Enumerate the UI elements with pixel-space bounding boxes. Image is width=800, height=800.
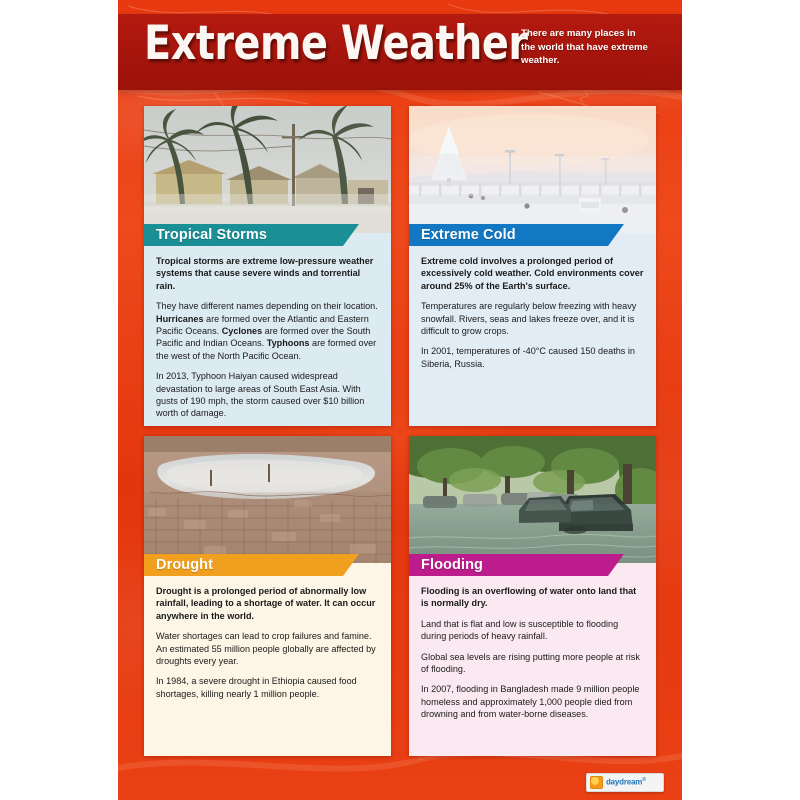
poster-subtitle: There are many places in the world that …	[521, 27, 651, 68]
panel-extreme-cold: Extreme Cold Extreme cold involves a pro…	[409, 106, 656, 426]
sun-cloud-icon	[590, 776, 603, 789]
paragraph: Global sea levels are rising putting mor…	[421, 651, 644, 676]
panel-header-extreme-cold: Extreme Cold	[409, 224, 624, 246]
panel-header-drought: Drought	[144, 554, 359, 576]
paragraph: In 1984, a severe drought in Ethiopia ca…	[156, 675, 379, 700]
paragraph: In 2007, flooding in Bangladesh made 9 m…	[421, 683, 644, 720]
panel-header-flooding: Flooding	[409, 554, 624, 576]
paragraph: In 2013, Typhoon Haiyan caused widesprea…	[156, 370, 379, 420]
paragraph: In 2001, temperatures of -40°C caused 15…	[421, 345, 644, 370]
paragraph: Land that is flat and low is susceptible…	[421, 618, 644, 643]
extreme-weather-poster: Extreme Weather There are many places in…	[118, 0, 682, 800]
logo-wordmark: daydream®	[606, 778, 646, 787]
panel-body-drought: Drought is a prolonged period of abnorma…	[144, 563, 391, 756]
paragraph: Flooding is an overflowing of water onto…	[421, 585, 644, 610]
paragraph: Temperatures are regularly below freezin…	[421, 300, 644, 337]
poster-banner: Extreme Weather There are many places in…	[118, 14, 682, 90]
flooding-photo	[409, 436, 656, 563]
publisher-logo: daydream®	[586, 773, 664, 792]
panel-body-extreme-cold: Extreme cold involves a prolonged period…	[409, 233, 656, 426]
panel-heading: Tropical Storms	[144, 227, 267, 243]
panel-flooding: Flooding Flooding is an overflowing of w…	[409, 436, 656, 756]
panel-heading: Drought	[144, 557, 213, 573]
paragraph: Extreme cold involves a prolonged period…	[421, 255, 644, 292]
poster-canvas: Extreme Weather There are many places in…	[0, 0, 800, 800]
drought-photo	[144, 436, 391, 563]
panel-body-tropical-storms: Tropical storms are extreme low-pressure…	[144, 233, 391, 426]
tropical-storm-photo	[144, 106, 391, 233]
extreme-cold-photo	[409, 106, 656, 233]
paragraph: Drought is a prolonged period of abnorma…	[156, 585, 379, 622]
panel-heading: Flooding	[409, 557, 483, 573]
paragraph: They have different names depending on t…	[156, 300, 379, 362]
page-title: Extreme Weather	[144, 20, 527, 67]
topic-panel-grid: Tropical Storms Tropical storms are extr…	[144, 106, 656, 756]
panel-body-flooding: Flooding is an overflowing of water onto…	[409, 563, 656, 756]
paragraph: Tropical storms are extreme low-pressure…	[156, 255, 379, 292]
paragraph: Water shortages can lead to crop failure…	[156, 630, 379, 667]
panel-tropical-storms: Tropical Storms Tropical storms are extr…	[144, 106, 391, 426]
panel-header-tropical-storms: Tropical Storms	[144, 224, 359, 246]
panel-heading: Extreme Cold	[409, 227, 516, 243]
panel-drought: Drought Drought is a prolonged period of…	[144, 436, 391, 756]
